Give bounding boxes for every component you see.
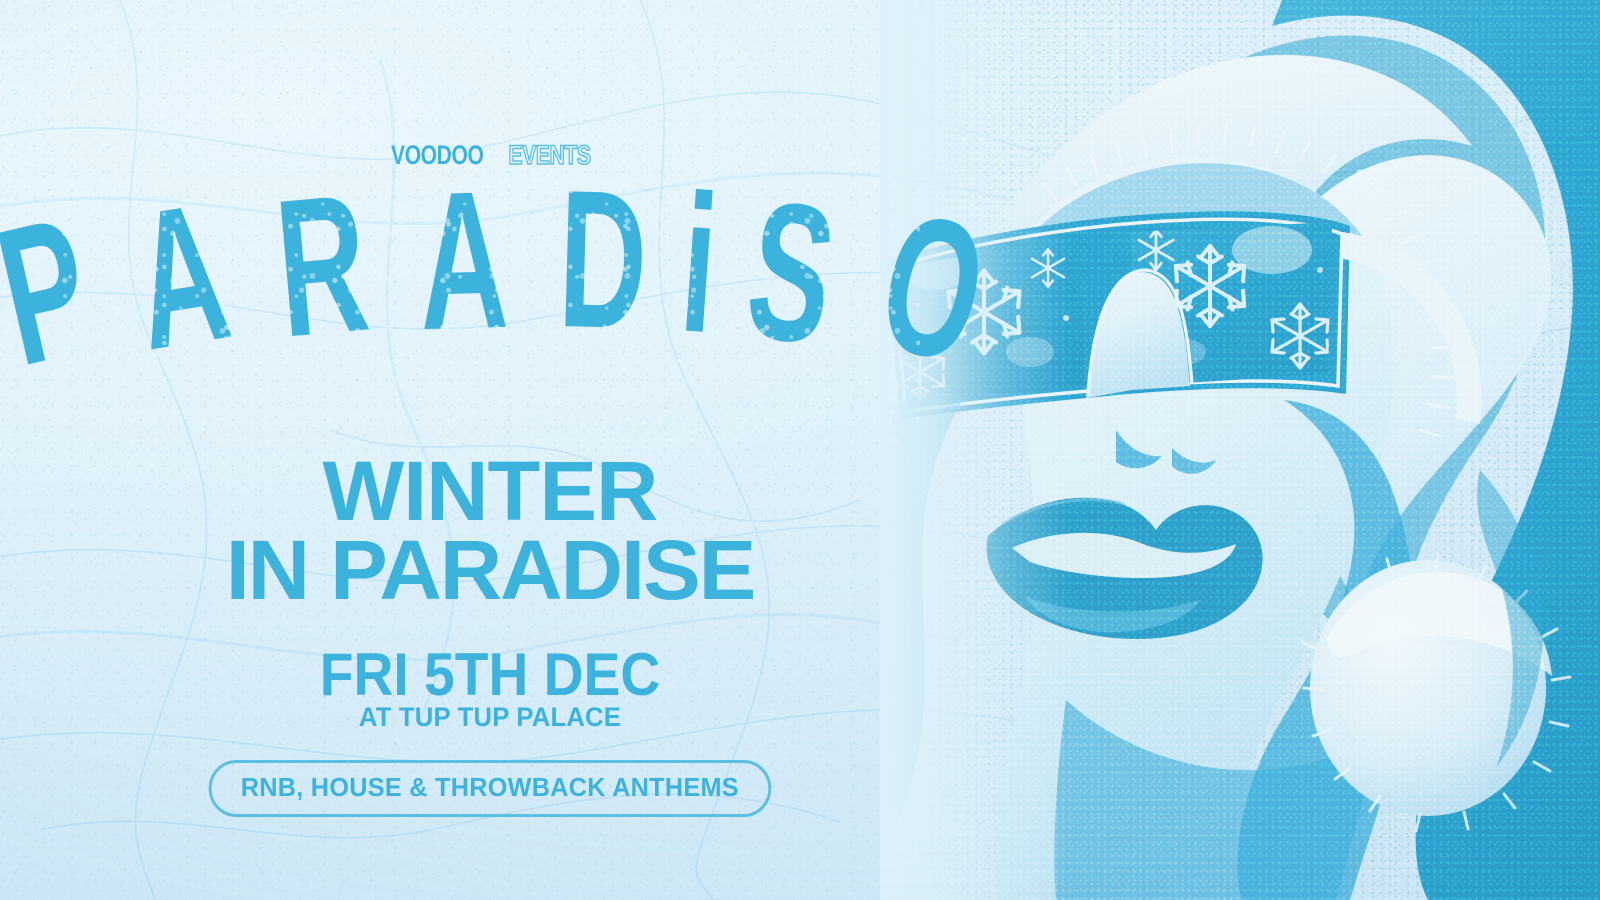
genre-badge-container: RNB, HOUSE & THROWBACK ANTHEMS (0, 760, 980, 817)
poster-text-column: VOODOOEVENTS PARADiSO WINTER IN PARADISE… (0, 0, 980, 900)
event-venue: AT TUP TUP PALACE (25, 702, 956, 733)
event-poster: VOODOOEVENTS PARADiSO WINTER IN PARADISE… (0, 0, 1600, 900)
photo-noise-layer (880, 0, 1600, 900)
duotone-portrait-illustration (880, 0, 1600, 900)
event-title-paradiso: PARADiSO (0, 178, 980, 448)
event-date: FRI 5TH DEC (39, 645, 941, 705)
headline-line-2: IN PARADISE (0, 531, 995, 610)
headline-line-1: WINTER (0, 452, 995, 531)
genre-badge: RNB, HOUSE & THROWBACK ANTHEMS (209, 760, 771, 817)
artwork-photo-woman-santa-hat (880, 0, 1600, 900)
event-headline: WINTER IN PARADISE (0, 452, 995, 610)
